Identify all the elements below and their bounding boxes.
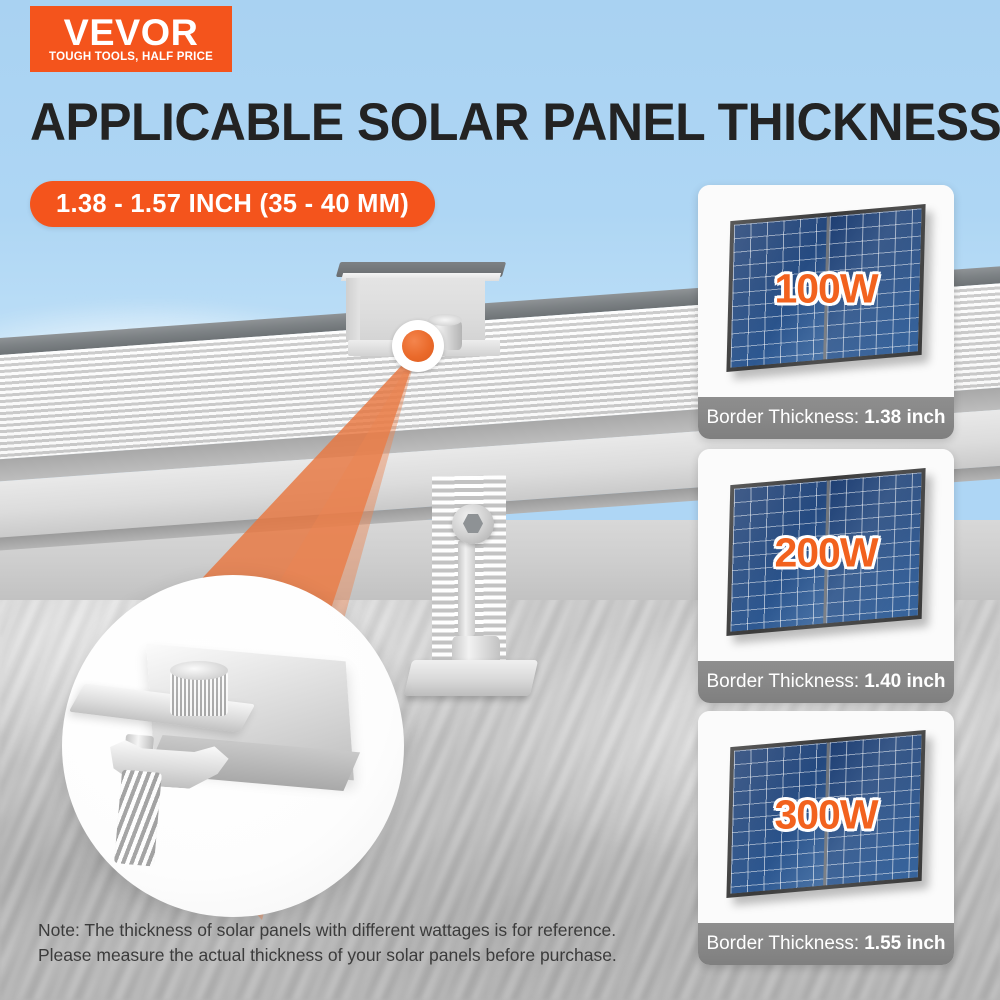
note-line-1: Note: The thickness of solar panels with… xyxy=(38,918,678,943)
thickness-range-badge: 1.38 - 1.57 INCH (35 - 40 MM) xyxy=(30,181,435,227)
wattage-label: 200W xyxy=(698,530,954,577)
panel-image: 100W xyxy=(698,185,954,397)
threaded-screw xyxy=(114,769,162,866)
hotspot-dot-icon xyxy=(402,330,434,362)
panel-spec-card: 100W Border Thickness: 1.38 inch xyxy=(698,185,954,439)
card-caption: Border Thickness: 1.38 inch xyxy=(698,397,954,439)
caption-value: 1.38 inch xyxy=(864,407,945,429)
page-title: APPLICABLE SOLAR PANEL THICKNESS xyxy=(30,96,876,149)
footer-note: Note: The thickness of solar panels with… xyxy=(38,918,678,969)
card-caption: Border Thickness: 1.40 inch xyxy=(698,661,954,703)
hex-socket-bolt-icon xyxy=(452,504,494,544)
panel-image: 200W xyxy=(698,449,954,661)
caption-label: Border Thickness: xyxy=(706,407,859,429)
post-base-plate xyxy=(404,660,538,696)
card-caption: Border Thickness: 1.55 inch xyxy=(698,923,954,965)
caption-value: 1.40 inch xyxy=(864,671,945,693)
wattage-label: 300W xyxy=(698,792,954,839)
caption-label: Border Thickness: xyxy=(706,933,859,955)
panel-spec-card: 300W Border Thickness: 1.55 inch xyxy=(698,711,954,965)
panel-spec-card: 200W Border Thickness: 1.40 inch xyxy=(698,449,954,703)
logo-wordmark: VEVOR xyxy=(64,15,199,50)
panel-image: 300W xyxy=(698,711,954,923)
caption-label: Border Thickness: xyxy=(706,671,859,693)
note-line-2: Please measure the actual thickness of y… xyxy=(38,943,678,968)
thickness-range-text: 1.38 - 1.57 INCH (35 - 40 MM) xyxy=(56,190,409,219)
knurled-bolt-head xyxy=(170,670,228,716)
post-tab xyxy=(458,540,475,636)
caption-value: 1.55 inch xyxy=(864,933,945,955)
wattage-label: 100W xyxy=(698,266,954,313)
magnifier-circle xyxy=(62,575,404,917)
vevor-logo: VEVOR TOUGH TOOLS, HALF PRICE xyxy=(30,6,232,72)
